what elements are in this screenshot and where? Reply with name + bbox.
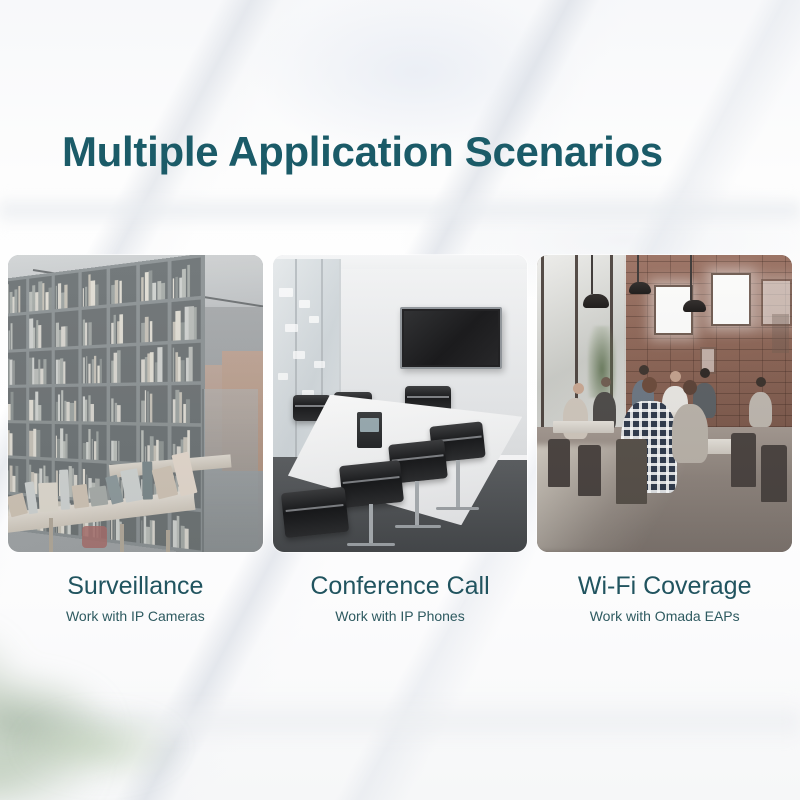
book-spine	[176, 311, 181, 340]
book-spine	[118, 350, 121, 383]
window-mullion	[541, 255, 544, 445]
bookshelf-cubby	[29, 313, 51, 348]
bookshelf-cubby	[110, 305, 136, 343]
book-cover	[142, 462, 152, 500]
library-scene	[8, 255, 263, 552]
bookshelf-cubby	[110, 346, 136, 383]
promo-banner: Multiple Application Scenarios	[0, 0, 800, 800]
cafe-scene	[537, 255, 792, 552]
book-spine	[66, 434, 68, 459]
book-spine	[149, 321, 151, 342]
book-spine	[172, 520, 176, 548]
bookshelf-cubby	[140, 385, 168, 423]
cafe-chair	[761, 445, 786, 501]
frosted-pattern	[293, 351, 305, 359]
frosted-pattern	[299, 300, 310, 308]
book-spine	[18, 286, 20, 313]
caption-conference-call: Conference Call Work with IP Phones	[273, 572, 528, 642]
page-title: Multiple Application Scenarios	[62, 128, 663, 176]
bookshelf-cubby	[172, 342, 201, 381]
book-spine	[44, 359, 47, 384]
person	[672, 404, 708, 463]
book-spine	[39, 325, 42, 348]
pendant-cord	[637, 255, 639, 282]
book-cover	[25, 481, 39, 514]
book-spine	[13, 361, 15, 385]
bookshelf-cubby	[140, 344, 168, 382]
book-spine	[189, 306, 193, 339]
bookshelf-cubby	[140, 262, 168, 302]
bookshelf-cubby	[55, 387, 79, 422]
book-spine	[38, 405, 41, 421]
window	[711, 273, 752, 326]
book-spine	[185, 306, 189, 339]
bookshelf-cubby	[172, 300, 201, 340]
book-spine	[194, 307, 197, 339]
caption-title: Wi-Fi Coverage	[537, 572, 792, 602]
book-spine	[36, 430, 39, 457]
book-spine	[149, 393, 152, 422]
scenario-image-row	[8, 255, 792, 552]
caption-title: Surveillance	[8, 572, 263, 602]
book-spine	[187, 265, 191, 298]
caption-surveillance: Surveillance Work with IP Cameras	[8, 572, 263, 642]
cafe-table	[553, 421, 614, 433]
book-spine	[11, 392, 14, 420]
indoor-plant	[588, 326, 616, 397]
book-spine	[95, 284, 99, 306]
bookshelf-cubby	[8, 423, 26, 456]
book-cover	[38, 482, 58, 512]
book-spine	[158, 347, 162, 382]
bookshelf-cubby	[8, 351, 26, 384]
person	[749, 392, 772, 428]
wall-mounted-display	[400, 307, 502, 369]
book-spine	[162, 282, 165, 299]
book-spine	[120, 315, 123, 344]
caption-title: Conference Call	[273, 572, 528, 602]
book-spine	[144, 271, 148, 301]
book-spine	[153, 283, 157, 300]
bookshelf-cubby	[55, 311, 79, 347]
person-head	[642, 377, 657, 393]
book-spine	[100, 359, 102, 383]
book-cover	[59, 470, 70, 510]
book-spine	[64, 285, 68, 309]
person-head	[573, 383, 584, 394]
caption-subtitle: Work with IP Cameras	[8, 608, 263, 624]
bookshelf-cubby	[29, 424, 51, 458]
chair	[339, 460, 404, 508]
chair-stem	[415, 481, 419, 526]
book-spine	[10, 433, 13, 456]
book-cover	[71, 484, 89, 509]
scenario-image-wifi-coverage	[537, 255, 792, 552]
chair-base	[347, 543, 395, 546]
bookshelf-cubby	[82, 425, 107, 461]
book-spine	[152, 520, 155, 545]
cafe-chair	[731, 433, 756, 486]
bookshelf-cubby	[8, 387, 26, 420]
scenario-image-conference-call	[273, 255, 528, 552]
book-cover	[89, 485, 108, 506]
book-spine	[181, 360, 185, 382]
bookshelf-cubby	[110, 265, 136, 304]
book-spine	[66, 326, 68, 346]
bookshelf-cubby	[55, 273, 79, 310]
chair-stem	[456, 460, 460, 508]
book-spine	[185, 529, 188, 549]
pendant-light	[683, 300, 706, 312]
book-spine	[180, 526, 185, 549]
pendant-cord	[690, 255, 692, 300]
frosted-pattern	[314, 361, 325, 368]
floor-bag	[82, 526, 107, 548]
pendant-light	[629, 282, 651, 294]
book-spine	[63, 361, 66, 383]
book-spine	[10, 323, 13, 349]
cafe-chair	[616, 439, 647, 504]
wall-art	[772, 314, 790, 353]
background-blur-band	[0, 196, 800, 226]
caption-subtitle: Work with Omada EAPs	[537, 608, 792, 624]
glass-railing	[202, 389, 258, 552]
book-spine	[88, 322, 92, 344]
bookshelf-cubby	[29, 350, 51, 384]
book-spine	[141, 360, 145, 382]
cafe-chair	[548, 439, 571, 487]
cafe-chair	[578, 445, 601, 495]
table-leg	[49, 518, 53, 552]
book-spine	[186, 400, 189, 424]
book-cover	[120, 468, 143, 503]
bookshelf-cubby	[110, 386, 136, 423]
bookshelf-cubby	[172, 257, 201, 298]
book-spine	[157, 281, 161, 300]
book-spine	[119, 280, 122, 303]
frosted-pattern	[278, 373, 288, 380]
book-spine	[189, 347, 193, 382]
bookshelf-cubby	[82, 269, 107, 307]
table-leg	[166, 530, 170, 552]
bookshelf-cubby	[82, 386, 107, 422]
bookshelf-cubby	[8, 279, 26, 314]
book-spine	[117, 405, 120, 422]
book-spine	[182, 269, 186, 298]
chair-base	[395, 525, 441, 528]
bookshelf-cubby	[82, 308, 107, 345]
table-leg	[120, 524, 124, 552]
book-spine	[96, 431, 98, 460]
book-spine	[49, 288, 52, 310]
bookshelf-cubby	[172, 509, 201, 550]
person-head	[601, 377, 611, 387]
frosted-pattern	[309, 316, 319, 323]
person-head	[683, 380, 697, 395]
bookshelf-cubby	[140, 303, 168, 342]
palm-frond-decoration-secondary	[20, 690, 250, 800]
bookshelf-cubby	[29, 387, 51, 421]
frosted-pattern	[285, 324, 298, 332]
caption-wifi-coverage: Wi-Fi Coverage Work with Omada EAPs	[537, 572, 792, 642]
bookshelf-cubby	[82, 347, 107, 383]
book-spine	[150, 353, 154, 382]
book-spine	[91, 404, 94, 422]
glass-mullion	[295, 259, 297, 463]
pendant-cord	[591, 255, 593, 294]
caption-subtitle: Work with IP Phones	[273, 608, 528, 624]
book-spine	[145, 316, 149, 341]
book-cover	[8, 493, 28, 517]
bookshelf-cubby	[55, 349, 79, 384]
bookshelf-cubby	[55, 424, 79, 459]
frosted-pattern	[279, 288, 293, 297]
chair-base	[436, 507, 479, 510]
ip-conference-phone	[357, 412, 382, 448]
bookshelf-cubby	[172, 385, 201, 424]
person-head	[670, 371, 681, 382]
conference-room-scene	[273, 255, 528, 552]
pendant-light	[583, 294, 609, 308]
chair	[281, 486, 349, 537]
bookshelf-cubby	[8, 315, 26, 349]
book-spine	[141, 322, 145, 342]
scenario-caption-row: Surveillance Work with IP Cameras Confer…	[8, 572, 792, 642]
scenario-image-surveillance	[8, 255, 263, 552]
chair-stem	[369, 504, 373, 543]
book-spine	[74, 401, 76, 421]
bookshelf-cubby	[29, 276, 51, 312]
